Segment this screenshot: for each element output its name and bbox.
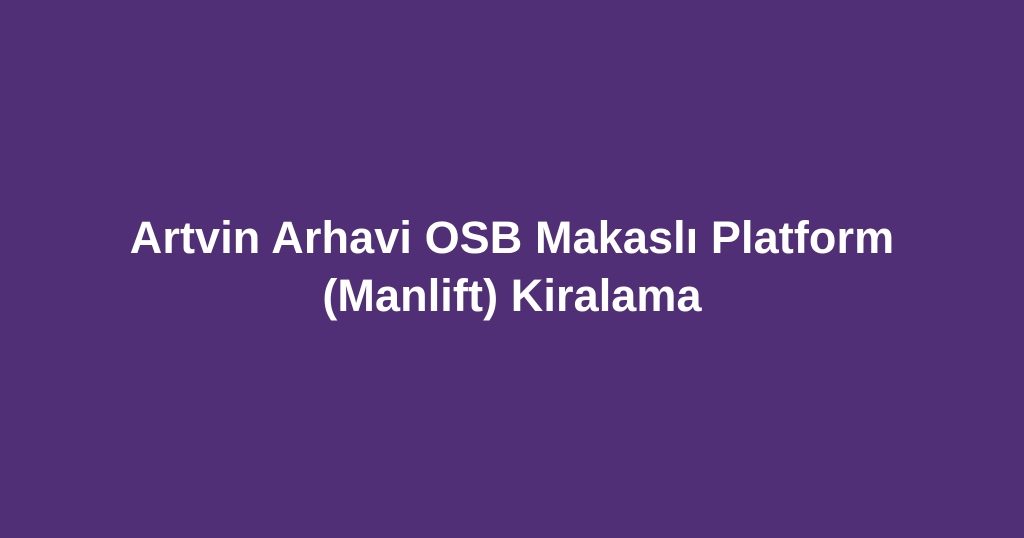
title-block: Artvin Arhavi OSB Makaslı Platform (Manl… — [102, 209, 922, 325]
share-card: Artvin Arhavi OSB Makaslı Platform (Manl… — [0, 0, 1024, 538]
page-title: Artvin Arhavi OSB Makaslı Platform (Manl… — [102, 209, 922, 325]
